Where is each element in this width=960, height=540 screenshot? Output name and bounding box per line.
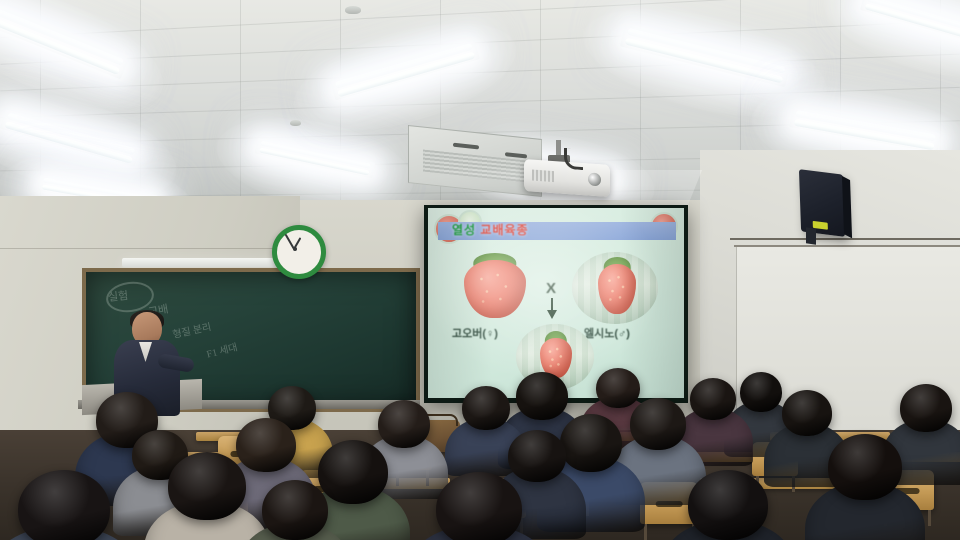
- student-16: [805, 434, 925, 540]
- slide-title-part-2: 교배육종: [480, 223, 528, 237]
- speaker-bracket: [806, 227, 816, 245]
- student-18: [240, 480, 350, 540]
- strawberry-seeds-2: [602, 268, 632, 310]
- student-head: [168, 452, 246, 520]
- cross-symbol: X: [546, 280, 556, 297]
- fire-sprinkler-icon-2: [290, 120, 301, 126]
- parent-strawberry-left: [464, 260, 526, 318]
- student-front-left-1: [0, 470, 139, 540]
- chair-leg-2: [928, 510, 931, 526]
- projector-vent: [532, 170, 554, 183]
- ceiling-tile-line-v: [240, 0, 241, 215]
- chalk-note-0: 실험: [107, 287, 129, 305]
- student-head: [436, 472, 522, 540]
- wall-seam: [0, 248, 300, 249]
- student-head: [18, 470, 110, 540]
- student-head: [900, 384, 952, 432]
- student-head: [688, 470, 768, 540]
- ceiling-tile-line-v: [340, 0, 341, 215]
- ceiling-projector: [524, 159, 610, 197]
- student-head: [828, 434, 902, 500]
- student-head: [782, 390, 832, 436]
- parent-strawberry-right-photo: [572, 252, 658, 324]
- strawberry-seeds: [468, 264, 522, 314]
- wall-rail-2: [734, 245, 960, 247]
- student-front-right: [662, 470, 794, 540]
- ceiling-tile-line-v: [140, 0, 141, 215]
- wall-clock: [272, 225, 326, 279]
- parent-left-label: 고오버(♀): [452, 325, 498, 341]
- student-front-center: [409, 472, 549, 540]
- slide-title: 열성 교배육종: [452, 223, 572, 238]
- fire-sprinkler-icon: [345, 6, 361, 14]
- ac-vent-slot: [453, 143, 479, 150]
- arrow-down-icon: [547, 310, 557, 319]
- chalk-note-3: F1 세대: [205, 338, 239, 360]
- lecture-hall-photo: 실험 교배 형질 분리 F1 세대 열성 교배육종 고: [0, 0, 960, 540]
- parent-strawberry-right: [598, 264, 636, 314]
- projector-cable: [564, 148, 583, 170]
- strawberry-body-2: [598, 264, 636, 314]
- student-head: [462, 386, 510, 430]
- strawberry-seeds-3: [544, 342, 568, 374]
- student-head: [262, 480, 328, 540]
- slide-title-part-1: 열성: [452, 223, 480, 237]
- clock-center-pin: [293, 247, 297, 251]
- projector-lens-icon: [588, 172, 601, 186]
- wall-rail: [730, 238, 960, 240]
- strawberry-body: [464, 260, 526, 318]
